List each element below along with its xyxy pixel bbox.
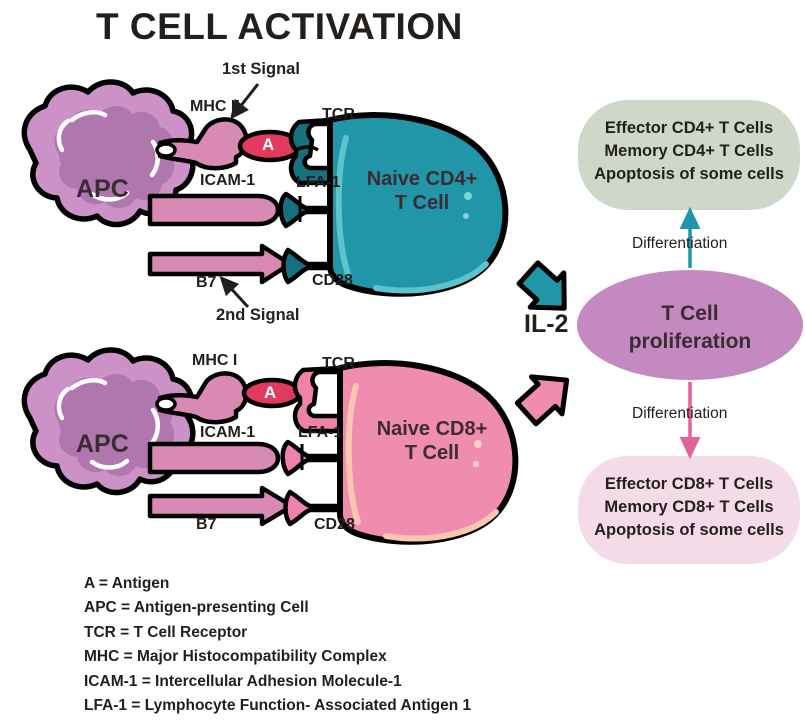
- bottom-tcr-label: TCR: [322, 355, 355, 373]
- naive-cd4-label-line2: T Cell: [358, 192, 486, 214]
- top-lfa1-receptor: [281, 194, 330, 226]
- top-cd28-label: CD28: [312, 272, 353, 290]
- lower-differentiation-label: Differentiation: [632, 405, 727, 422]
- legend: A = Antigen APC = Antigen-presenting Cel…: [84, 572, 471, 719]
- bottom-lfa1-receptor: [283, 442, 340, 474]
- cd8-outcome-line-2: Memory CD8+ T Cells: [578, 497, 800, 518]
- bottom-apc-label: APC: [76, 430, 129, 458]
- bottom-cd28-label: CD28: [314, 516, 355, 534]
- cd4-outcome-line-2: Memory CD4+ T Cells: [578, 141, 800, 162]
- second-signal-arrow: [226, 283, 248, 307]
- top-lfa1-label: LFA-1: [296, 174, 340, 192]
- bottom-antigen-label: A: [264, 383, 276, 402]
- proliferation-label-line1: T Cell: [616, 302, 764, 326]
- proliferation-label-line2: proliferation: [608, 330, 772, 354]
- il2-label: IL-2: [524, 310, 568, 338]
- bottom-icam1-molecule: [150, 444, 278, 472]
- naive-cd4-label-line1: Naive CD4+: [358, 168, 486, 190]
- legend-entry-mhc: MHC = Major Histocompatibility Complex: [84, 645, 471, 669]
- diagram-canvas: T CELL ACTIVATION 1st Signal MHC II TCR …: [0, 0, 805, 727]
- legend-entry-tcr: TCR = T Cell Receptor: [84, 621, 471, 645]
- top-apc-label: APC: [76, 175, 129, 203]
- legend-entry-lfa1: LFA-1 = Lymphocyte Function- Associated …: [84, 694, 471, 718]
- top-icam1-label: ICAM-1: [200, 172, 255, 190]
- legend-entry-apc: APC = Antigen-presenting Cell: [84, 596, 471, 620]
- bottom-mhc1-label: MHC I: [192, 352, 237, 370]
- top-tcr-label: TCR: [322, 106, 355, 124]
- bottom-lfa1-label: LFA-1: [298, 424, 342, 442]
- cd4-outcome-line-3: Apoptosis of some cells: [578, 164, 800, 185]
- legend-entry-icam1: ICAM-1 = Intercellular Adhesion Molecule…: [84, 670, 471, 694]
- top-b7-molecule: [150, 246, 290, 282]
- upper-differentiation-label: Differentiation: [632, 235, 727, 252]
- bottom-tcr-receptor: [295, 368, 340, 431]
- cd8-outcome-line-1: Effector CD8+ T Cells: [578, 474, 800, 495]
- cd8-to-il2-arrow: [511, 361, 582, 431]
- naive-cd8-label-line1: Naive CD8+: [368, 418, 496, 440]
- cd4-outcome-line-1: Effector CD4+ T Cells: [578, 118, 800, 139]
- legend-entry-antigen: A = Antigen: [84, 572, 471, 596]
- top-b7-label: B7: [196, 274, 216, 292]
- top-antigen-label: A: [262, 135, 274, 154]
- top-icam1-molecule: [150, 196, 278, 224]
- bottom-icam1-label: ICAM-1: [200, 424, 255, 442]
- first-signal-label: 1st Signal: [222, 60, 300, 78]
- top-mhc2-label: MHC II: [190, 98, 240, 116]
- bottom-b7-label: B7: [196, 516, 216, 534]
- cd8-outcome-line-3: Apoptosis of some cells: [578, 520, 800, 541]
- naive-cd8-label-line2: T Cell: [368, 442, 496, 464]
- page-title: T CELL ACTIVATION: [96, 6, 463, 47]
- bottom-b7-molecule: [150, 488, 292, 524]
- second-signal-label: 2nd Signal: [216, 306, 299, 324]
